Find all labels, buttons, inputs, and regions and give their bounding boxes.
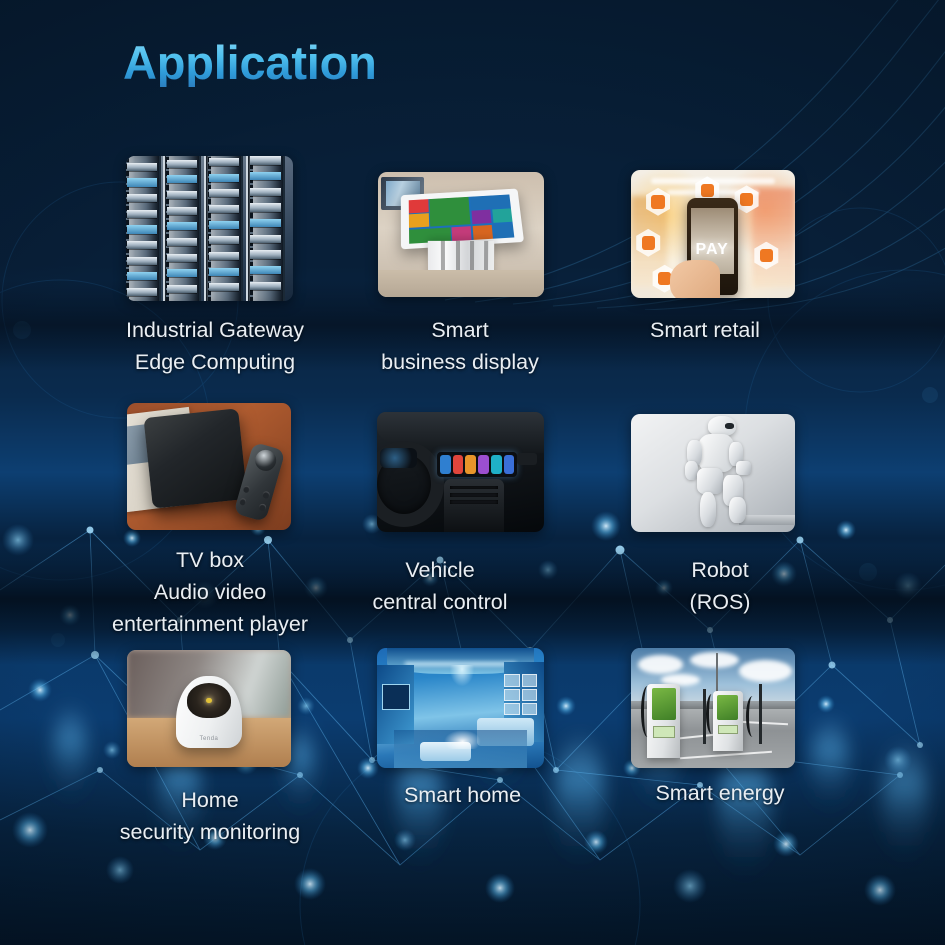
caption-smart-energy: Smart energy xyxy=(600,778,840,810)
mobile-payment-store-photo: PAY xyxy=(631,170,795,298)
application-showcase-page: Application xyxy=(0,0,945,945)
server-rack-photo xyxy=(126,156,293,301)
touchscreen-kiosk-photo xyxy=(378,172,544,297)
caption-vehicle-central-control: Vehicle central control xyxy=(320,555,560,619)
application-thumbnail-smart-retail[interactable]: PAY xyxy=(631,170,795,298)
pay-overlay-text: PAY xyxy=(687,241,738,259)
application-thumbnail-home-security[interactable]: Tenda xyxy=(127,650,291,767)
application-grid: PAY xyxy=(0,0,945,945)
tv-box-remote-photo xyxy=(127,403,291,530)
ev-charging-stations-photo xyxy=(631,648,795,768)
smart-home-interior-photo xyxy=(377,648,544,768)
home-security-camera-photo: Tenda xyxy=(127,650,291,767)
application-thumbnail-vehicle-central-control[interactable] xyxy=(377,412,544,532)
caption-smart-home: Smart home xyxy=(340,780,585,812)
application-thumbnail-industrial-gateway[interactable] xyxy=(126,156,293,301)
caption-industrial-gateway: Industrial Gateway Edge Computing xyxy=(55,315,375,379)
humanoid-robot-photo xyxy=(631,414,795,532)
caption-smart-business-display: Smart business display xyxy=(330,315,590,379)
caption-home-security: Home security monitoring xyxy=(50,785,370,849)
car-dashboard-photo xyxy=(377,412,544,532)
application-thumbnail-smart-business-display[interactable] xyxy=(378,172,544,297)
caption-smart-retail: Smart retail xyxy=(580,315,830,347)
caption-robot-ros: Robot (ROS) xyxy=(605,555,835,619)
application-thumbnail-smart-home[interactable] xyxy=(377,648,544,768)
camera-brand-label: Tenda xyxy=(176,736,242,742)
application-thumbnail-smart-energy[interactable] xyxy=(631,648,795,768)
application-thumbnail-tv-box[interactable] xyxy=(127,403,291,530)
application-thumbnail-robot-ros[interactable] xyxy=(631,414,795,532)
